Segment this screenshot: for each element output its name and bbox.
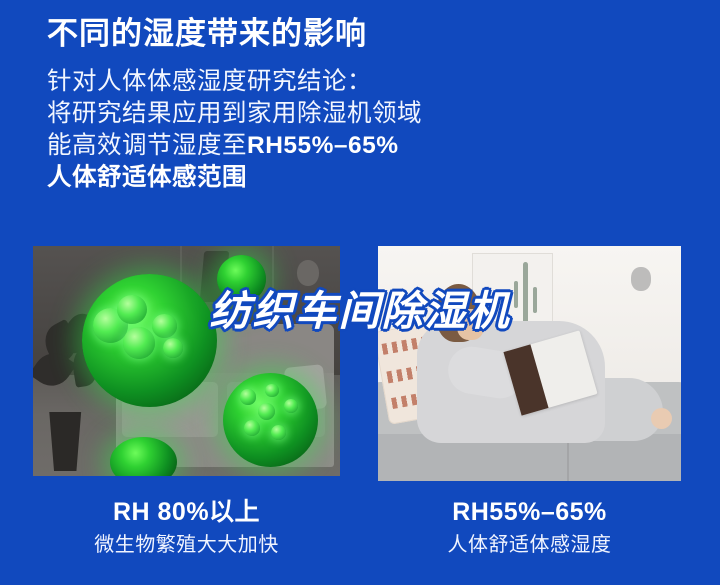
microbe-cluster-round [223,373,318,467]
intro-line-3-highlight: RH55%–65% [247,132,399,159]
intro-line-3: 能高效调节湿度至RH55%–65% [47,130,687,162]
person-face [457,309,484,340]
intro-line-4: 人体舒适体感范围 [47,162,687,194]
photo-row [0,246,720,482]
caption-row: RH 80%以上 微生物繁殖大大加快 RH55%–65% 人体舒适体感湿度 [0,496,720,585]
header-block: 不同的湿度带来的影响 针对人体体感湿度研究结论： 将研究结果应用到家用除湿机领域… [47,14,687,194]
intro-paragraph: 针对人体体感湿度研究结论： 将研究结果应用到家用除湿机领域 能高效调节湿度至RH… [47,66,687,194]
microbe-cluster-large [82,274,217,407]
poster-canvas: 不同的湿度带来的影响 针对人体体感湿度研究结论： 将研究结果应用到家用除湿机领域… [0,0,720,585]
photo-left-high-humidity [33,246,340,476]
caption-right-main: RH55%–65% [378,496,681,528]
caption-left: RH 80%以上 微生物繁殖大大加快 [33,496,340,558]
page-title: 不同的湿度带来的影响 [47,14,687,54]
intro-line-2: 将研究结果应用到家用除湿机领域 [47,98,687,130]
intro-line-3-prefix: 能高效调节湿度至 [47,132,247,159]
wall-knob [297,260,319,286]
intro-line-1: 针对人体体感湿度研究结论： [47,66,687,98]
caption-left-main: RH 80%以上 [33,496,340,528]
caption-right-sub: 人体舒适体感湿度 [378,532,681,558]
wall-knob [631,267,651,291]
photo-right-comfort-humidity [378,246,681,481]
caption-left-sub: 微生物繁殖大大加快 [33,532,340,558]
caption-right: RH55%–65% 人体舒适体感湿度 [378,496,681,558]
